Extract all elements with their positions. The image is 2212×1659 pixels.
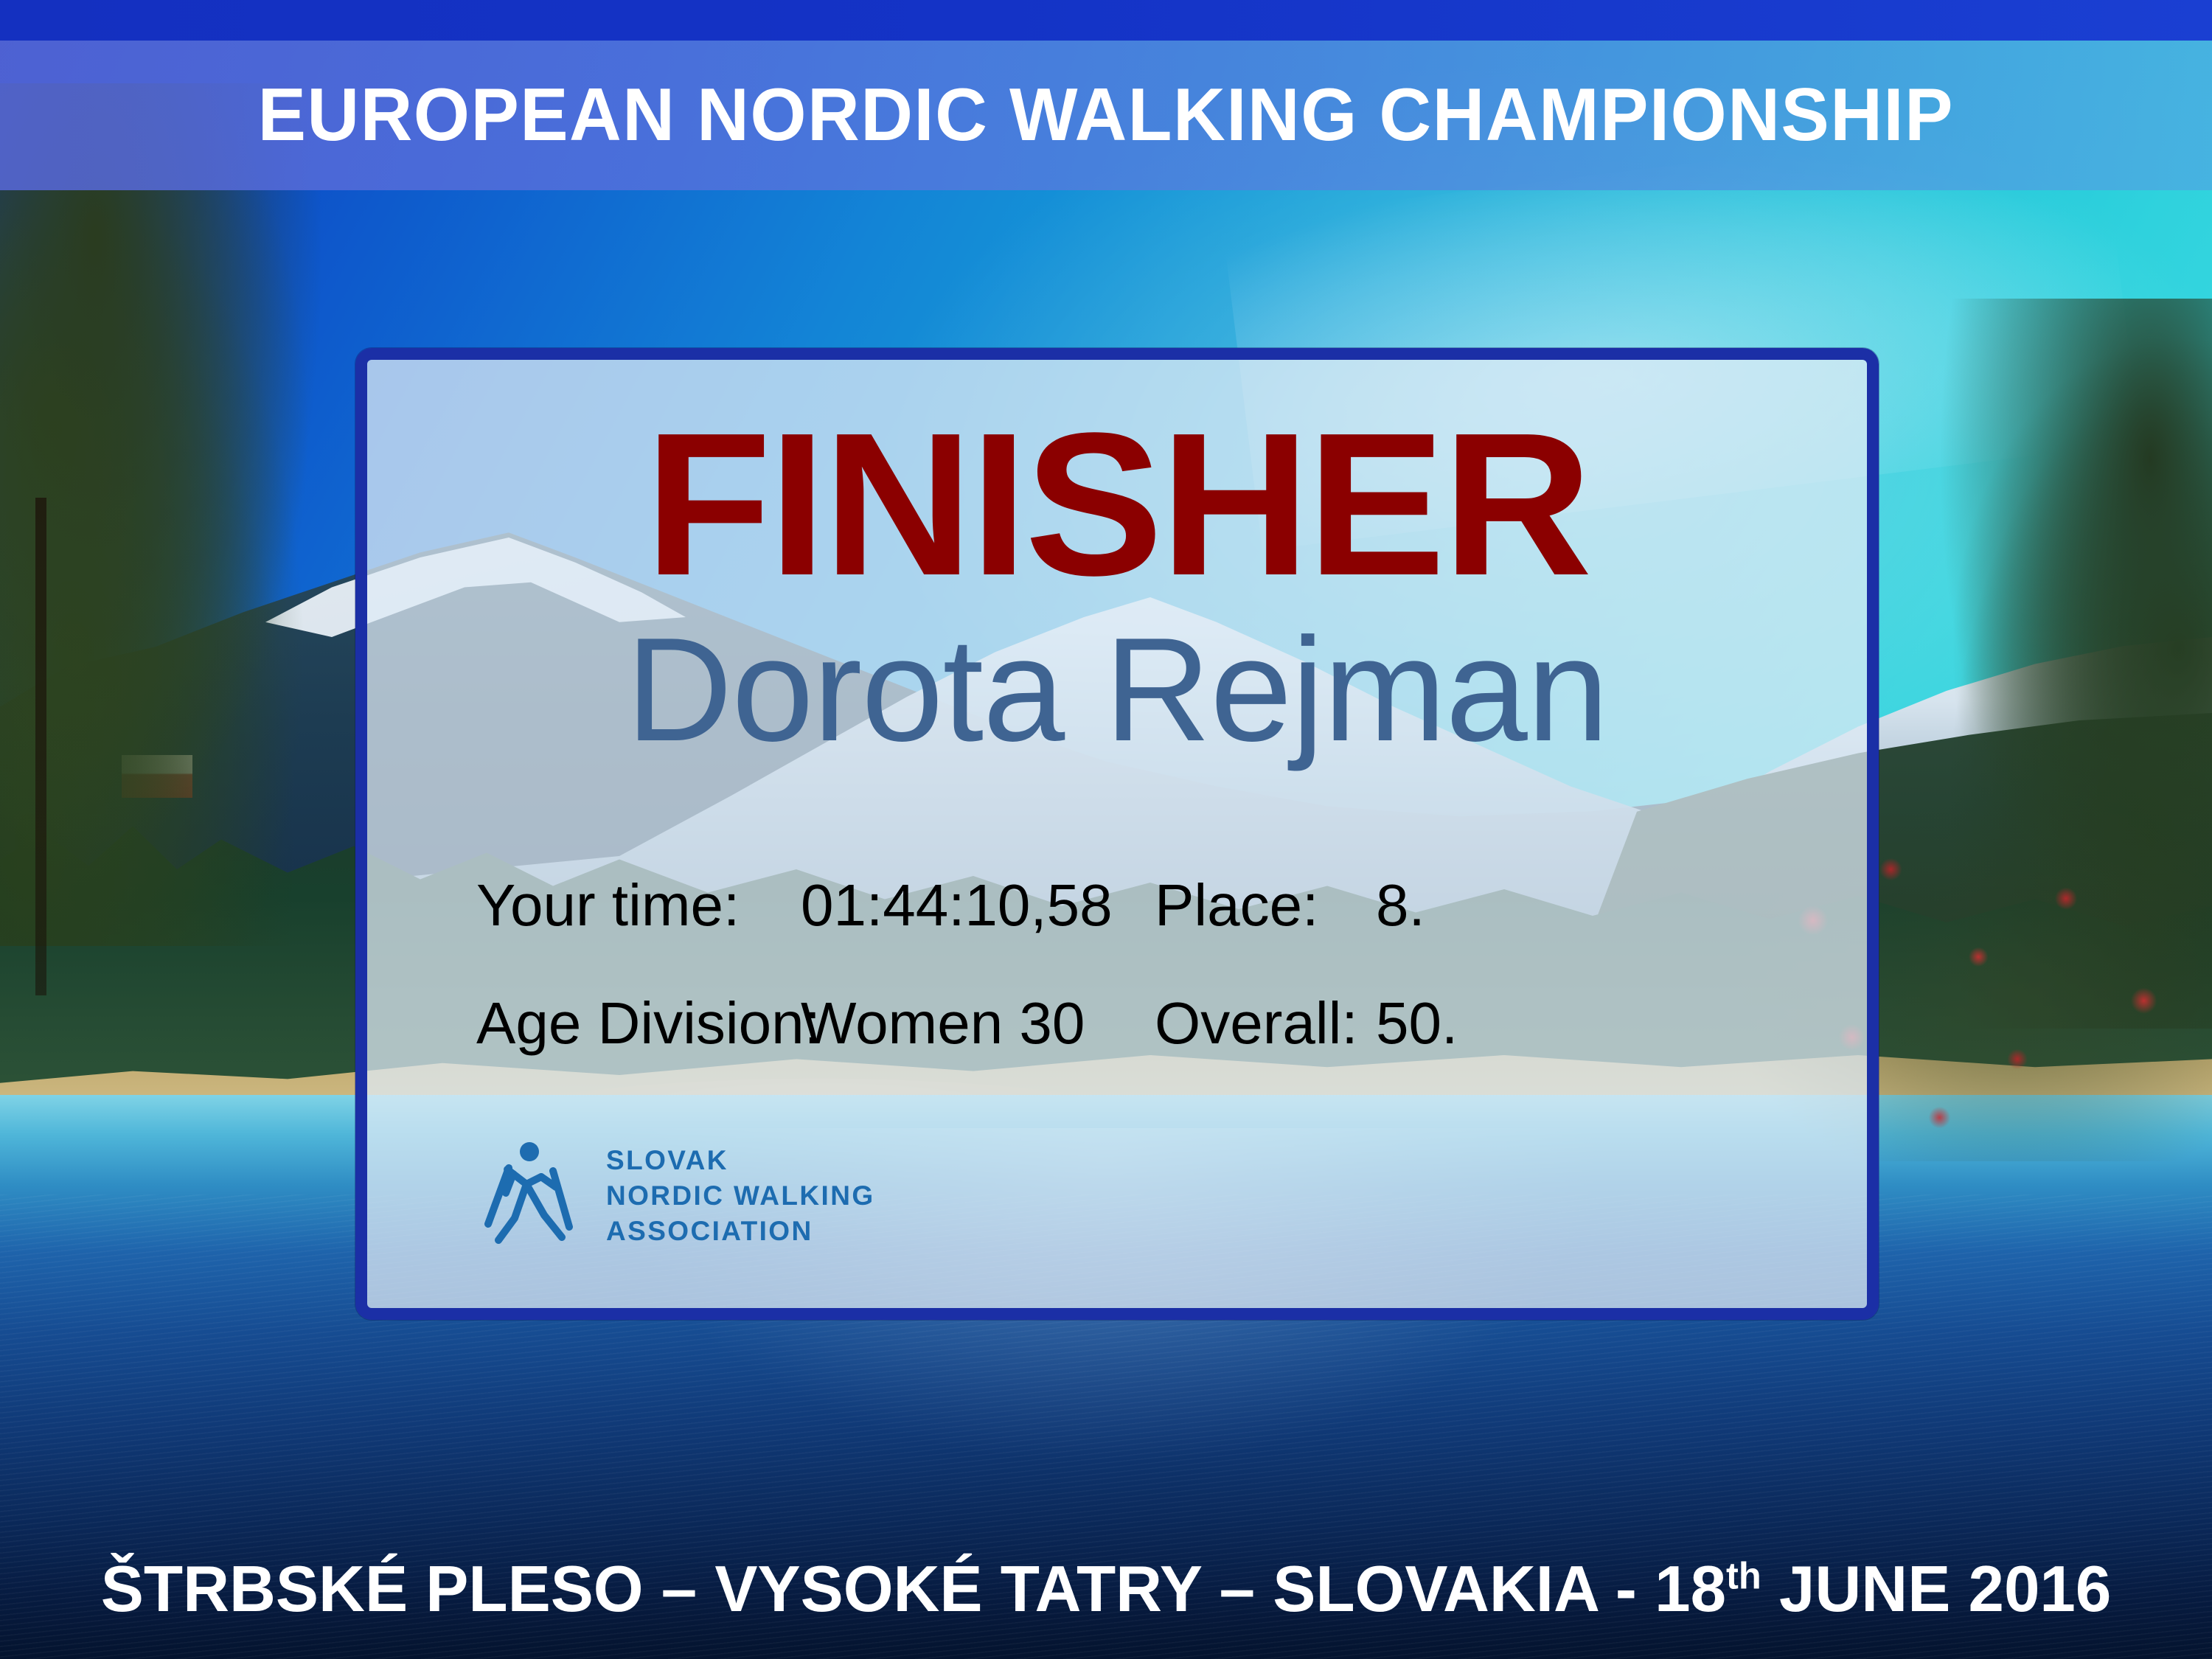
result-label-place: Place: bbox=[1155, 876, 1376, 935]
top-accent-strip bbox=[0, 0, 2212, 41]
result-value-age-division: Women 30 bbox=[801, 994, 1155, 1053]
result-label-time: Your time: bbox=[476, 876, 801, 935]
logo-line-2: NORDIC WALKING bbox=[606, 1178, 875, 1214]
results-table: Your time: 01:44:10,58 Place: 8. Age Div… bbox=[476, 876, 1818, 1112]
foreground-conifer-left bbox=[0, 83, 354, 946]
header-band: EUROPEAN NORDIC WALKING CHAMPIONSHIP bbox=[0, 41, 2212, 190]
footer-band: ŠTRBSKÉ PLESO – VYSOKÉ TATRY – SLOVAKIA … bbox=[0, 1519, 2212, 1659]
certificate-content: FINISHER Dorota Rejman Your time: 01:44:… bbox=[367, 360, 1867, 1308]
footer-location: ŠTRBSKÉ PLESO – VYSOKÉ TATRY – SLOVAKIA … bbox=[101, 1552, 1726, 1625]
association-name: SLOVAK NORDIC WALKING ASSOCIATION bbox=[606, 1143, 875, 1249]
association-logo: SLOVAK NORDIC WALKING ASSOCIATION bbox=[476, 1141, 875, 1251]
result-value-overall: 50. bbox=[1376, 994, 1538, 1053]
result-row: Age Division: Women 30 Overall: 50. bbox=[476, 994, 1818, 1112]
logo-line-1: SLOVAK bbox=[606, 1143, 875, 1178]
nordic-walker-icon bbox=[476, 1141, 587, 1251]
footer-date: JUNE 2016 bbox=[1761, 1552, 2112, 1625]
athlete-name: Dorota Rejman bbox=[367, 616, 1867, 764]
logo-line-3: ASSOCIATION bbox=[606, 1214, 875, 1249]
result-value-time: 01:44:10,58 bbox=[801, 876, 1155, 935]
event-location-date: ŠTRBSKÉ PLESO – VYSOKÉ TATRY – SLOVAKIA … bbox=[101, 1557, 2112, 1621]
finisher-certificate-card: FINISHER Dorota Rejman Your time: 01:44:… bbox=[355, 348, 1879, 1320]
certificate-poster: EUROPEAN NORDIC WALKING CHAMPIONSHIP FIN… bbox=[0, 0, 2212, 1659]
footer-ordinal-suffix: th bbox=[1726, 1555, 1761, 1597]
walker-head bbox=[520, 1142, 539, 1161]
conifer-trunk-left bbox=[35, 498, 46, 995]
result-label-overall: Overall: bbox=[1155, 994, 1376, 1053]
result-label-age-division: Age Division: bbox=[476, 994, 801, 1053]
result-value-place: 8. bbox=[1376, 876, 1538, 935]
result-row: Your time: 01:44:10,58 Place: 8. bbox=[476, 876, 1818, 994]
page-title: EUROPEAN NORDIC WALKING CHAMPIONSHIP bbox=[258, 78, 1954, 153]
status-title: FINISHER bbox=[355, 403, 1879, 606]
